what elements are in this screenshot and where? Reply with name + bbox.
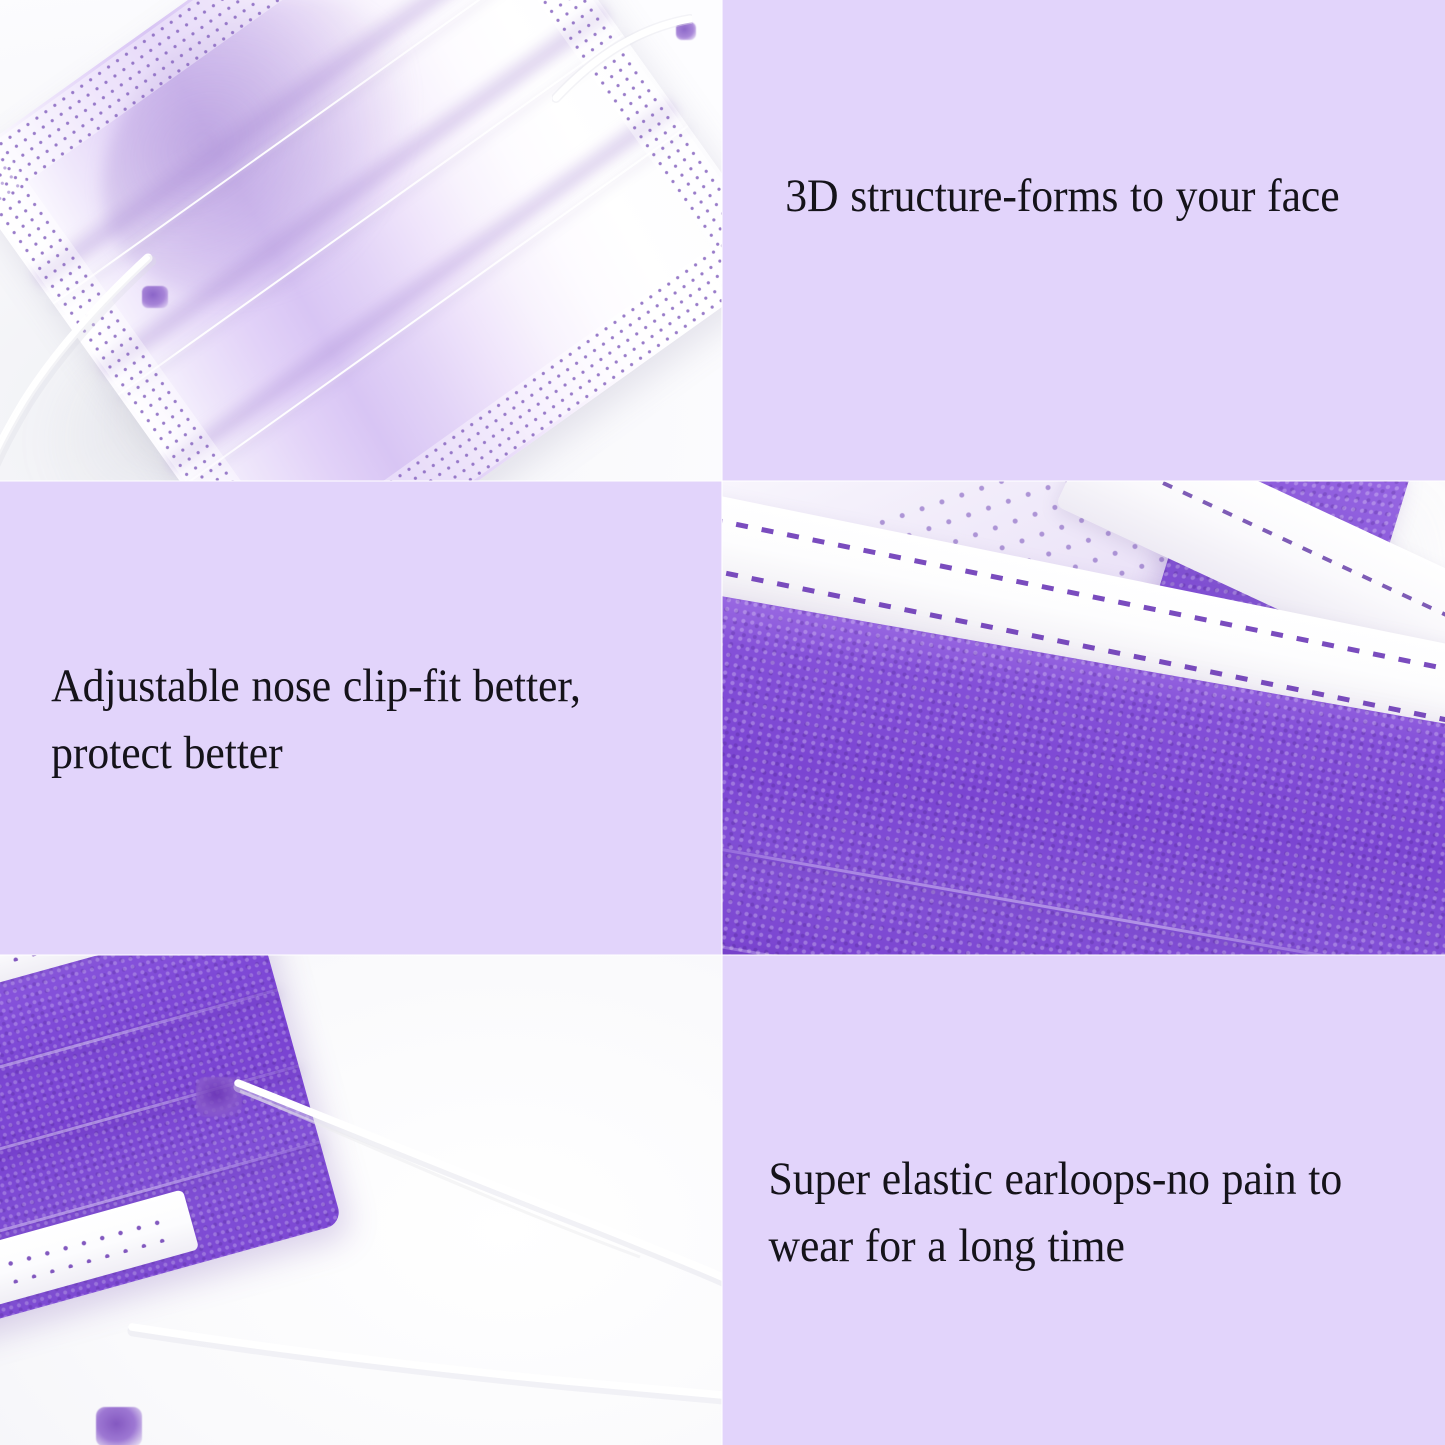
earloop-weld-knot [142, 286, 168, 308]
photo-cell-nose-clip [722, 481, 1445, 955]
photo-cell-earloops [0, 955, 722, 1445]
grid-seam-vertical [721, 0, 723, 1445]
caption-nose-clip: Adjustable nose clip-fit better, protect… [0, 653, 671, 786]
caption-3d-structure: 3D structure-forms to your face [722, 163, 1377, 230]
lavender-pleated-mask-photo [0, 0, 722, 481]
nose-clip-closeup-photo [722, 481, 1445, 955]
earloop-cord-top [552, 14, 692, 124]
grid-seam-horizontal [0, 480, 1445, 482]
earloop-cords-photo [0, 955, 722, 1445]
caption-cell-earloops: Super elastic earloops-no pain to wear f… [722, 955, 1445, 1445]
photo-cell-lavender-mask [0, 0, 722, 481]
caption-earloops: Super elastic earloops-no pain to wear f… [722, 1146, 1394, 1279]
mask-feature-infographic: 3D structure-forms to your face Adjustab… [0, 0, 1445, 1445]
caption-cell-nose-clip: Adjustable nose clip-fit better, protect… [0, 481, 722, 955]
caption-cell-3d-structure: 3D structure-forms to your face [722, 0, 1445, 481]
earloop-cords [0, 955, 722, 1445]
grid-seam-horizontal [0, 954, 1445, 956]
